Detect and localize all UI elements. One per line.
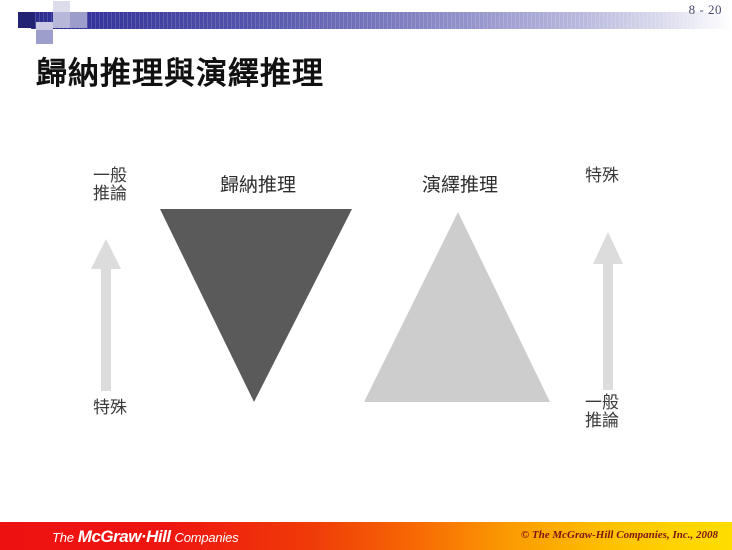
- header-tick-texture: [31, 12, 732, 29]
- left-axis-top-label: 一般 推論: [78, 168, 142, 204]
- right-axis-top-label: 特殊: [570, 168, 634, 186]
- page-number: 8 - 20: [689, 2, 722, 18]
- inductive-reasoning-heading: 歸納推理: [178, 170, 338, 197]
- logo-companies: Companies: [175, 530, 239, 545]
- footer-band: The McGraw·Hill Companies © The McGraw-H…: [0, 522, 732, 550]
- logo-the: The: [52, 530, 74, 545]
- header-decor-square-low: [36, 30, 53, 44]
- reasoning-diagram: 一般 推論 特殊 特殊 一般 推論 歸納推理 演繹推理: [0, 150, 732, 470]
- right-axis-bottom-label: 一般 推論: [570, 395, 634, 431]
- left-axis-top-label-line2: 推論: [78, 186, 142, 204]
- deductive-reasoning-heading: 演繹推理: [380, 170, 540, 197]
- left-up-arrow-icon: [88, 235, 124, 395]
- header-band: 8 - 20: [0, 0, 732, 40]
- slide: 8 - 20 歸納推理與演繹推理 一般 推論 特殊 特殊 一般 推論 歸納推理: [0, 0, 732, 550]
- header-decor-square-pale-c: [53, 12, 70, 28]
- copyright-text: © The McGraw-Hill Companies, Inc., 2008: [521, 529, 718, 541]
- logo-mcgraw: McGraw: [78, 527, 141, 546]
- logo-hill: Hill: [146, 527, 170, 546]
- left-axis-bottom-label: 特殊: [78, 400, 142, 418]
- upright-triangle-shape: [358, 208, 558, 408]
- mcgraw-hill-logo: The McGraw·Hill Companies: [52, 527, 238, 547]
- inverted-triangle-shape: [155, 205, 355, 405]
- right-axis-bottom-label-line2: 推論: [570, 413, 634, 431]
- header-decor-square-dark: [18, 12, 35, 28]
- header-decor-square-mid: [70, 12, 87, 28]
- right-up-arrow-icon: [590, 228, 626, 394]
- page-title: 歸納推理與演繹推理: [36, 48, 324, 93]
